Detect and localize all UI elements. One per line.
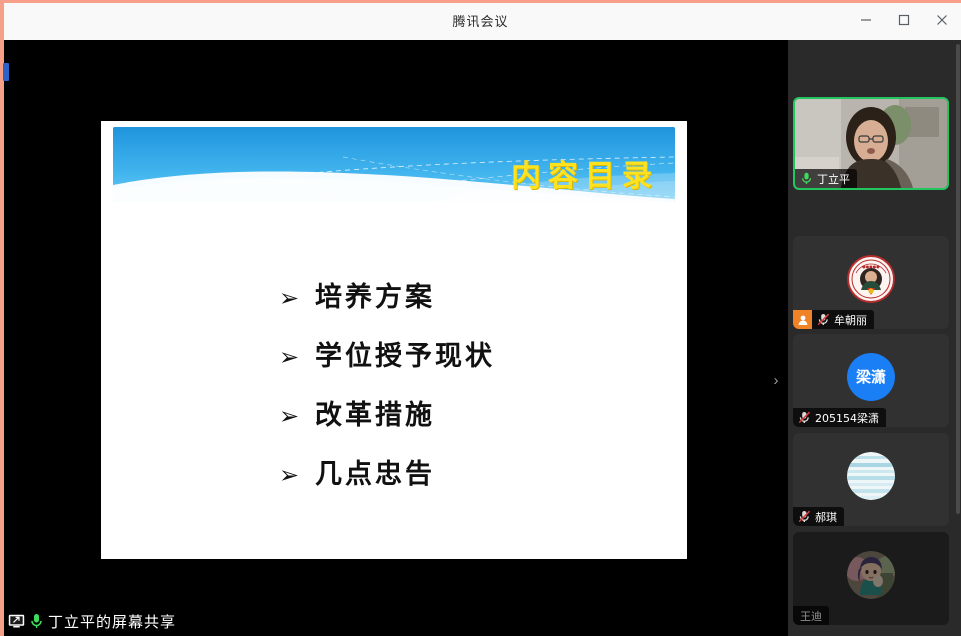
shared-screen-stage: 内容目录 ➢ 培养方案 ➢ 学位授予现状 ➢ 改革措施 ➢ 几点忠告 <box>0 40 788 636</box>
participant-tile-liang-xiao[interactable]: 梁潇 205154梁潇 <box>793 334 949 427</box>
list-item-label: 培养方案 <box>315 284 435 311</box>
minimize-button[interactable] <box>847 0 885 40</box>
participant-tile-mou-chaoli[interactable]: ●●●●● <box>793 236 949 329</box>
avatar: 梁潇 <box>847 353 895 401</box>
slide-bullet-list: ➢ 培养方案 ➢ 学位授予现状 ➢ 改革措施 ➢ 几点忠告 <box>279 284 679 520</box>
slide-banner: 内容目录 <box>113 127 675 202</box>
bullet-arrow-icon: ➢ <box>279 345 315 369</box>
list-item: ➢ 改革措施 <box>279 402 679 429</box>
microphone-icon <box>29 613 44 630</box>
bullet-arrow-icon: ➢ <box>279 463 315 487</box>
share-status-bar: 丁立平的屏幕共享 <box>0 606 796 636</box>
screen-share-icon <box>8 614 25 629</box>
avatar-initials: 梁潇 <box>856 366 886 387</box>
avatar <box>847 452 895 500</box>
participant-tile-wang-di[interactable]: 王迪 <box>793 532 949 625</box>
window-title: 腾讯会议 <box>452 11 508 30</box>
participant-name-bar: 205154梁潇 <box>793 408 886 427</box>
microphone-icon <box>795 169 817 188</box>
participant-name: 王迪 <box>800 608 822 624</box>
share-status-label: 丁立平的屏幕共享 <box>48 611 176 632</box>
chevron-right-icon[interactable]: › <box>768 368 784 392</box>
screen-share-border-top <box>0 0 961 3</box>
bullet-arrow-icon: ➢ <box>279 286 315 310</box>
list-item-label: 几点忠告 <box>315 461 435 488</box>
participant-name: 205154梁潇 <box>815 410 879 426</box>
participant-name: 丁立平 <box>817 171 850 187</box>
participant-tile-ding-liping[interactable]: 丁立平 <box>793 97 949 190</box>
screen-share-border-left <box>0 0 4 636</box>
host-badge-icon <box>793 310 812 329</box>
list-item-label: 改革措施 <box>315 402 435 429</box>
participant-list: 丁立平 ●●●●● <box>788 40 961 636</box>
participant-name-bar: 郝琪 <box>793 507 844 526</box>
presentation-slide: 内容目录 ➢ 培养方案 ➢ 学位授予现状 ➢ 改革措施 ➢ 几点忠告 <box>101 121 687 559</box>
avatar: ●●●●● <box>847 255 895 303</box>
participant-name: 郝琪 <box>815 509 837 525</box>
participant-rail-scrollbar[interactable] <box>956 44 960 514</box>
microphone-muted-icon <box>793 507 815 526</box>
microphone-muted-icon <box>793 408 815 427</box>
maximize-button[interactable] <box>885 0 923 40</box>
participant-tile-hao-qi[interactable]: 郝琪 <box>793 433 949 526</box>
list-item-label: 学位授予现状 <box>315 343 495 370</box>
participant-name-bar: 丁立平 <box>795 169 857 188</box>
list-item: ➢ 几点忠告 <box>279 461 679 488</box>
avatar <box>847 551 895 599</box>
participant-rail: 丁立平 ●●●●● <box>788 40 961 636</box>
share-toolbar-handle[interactable] <box>3 63 9 81</box>
list-item: ➢ 学位授予现状 <box>279 343 679 370</box>
window-controls <box>847 0 961 40</box>
bullet-arrow-icon: ➢ <box>279 404 315 428</box>
slide-title: 内容目录 <box>511 151 659 195</box>
list-item: ➢ 培养方案 <box>279 284 679 311</box>
participant-name: 牟朝丽 <box>834 312 867 328</box>
participant-name-bar: 王迪 <box>793 606 829 625</box>
title-bar: 腾讯会议 <box>0 0 961 40</box>
microphone-muted-icon <box>812 310 834 329</box>
participant-name-bar: 牟朝丽 <box>793 310 874 329</box>
meeting-window: 腾讯会议 <box>0 0 961 636</box>
close-button[interactable] <box>923 0 961 40</box>
